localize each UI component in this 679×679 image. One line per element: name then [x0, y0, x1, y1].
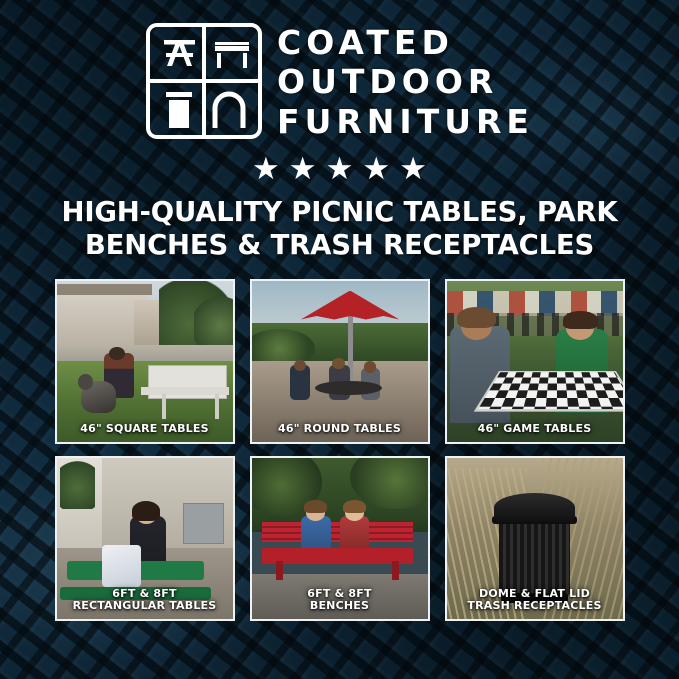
product-caption-line-2: TRASH RECEPTACLES [451, 600, 619, 613]
product-caption: 46" GAME TABLES [447, 423, 623, 436]
product-photo [57, 281, 233, 442]
headline: HIGH-QUALITY PICNIC TABLES, PARK BENCHES… [30, 196, 650, 263]
product-caption-line-2: BENCHES [256, 600, 424, 613]
promo-banner: COATED OUTDOOR FURNITURE ★ ★ ★ ★ ★ HIGH-… [0, 0, 679, 679]
star-icon: ★ [399, 153, 427, 184]
product-caption-line-1: 46" ROUND TABLES [256, 423, 424, 436]
brand-name-line-2: OUTDOOR [277, 63, 534, 101]
headline-line-1: HIGH-QUALITY PICNIC TABLES, PARK [30, 196, 650, 230]
product-grid: 46" SQUARE TABLES 46" ROUND TABLES [55, 279, 625, 621]
product-caption: DOME & FLAT LID TRASH RECEPTACLES [447, 588, 623, 613]
product-caption-line-1: 46" GAME TABLES [451, 423, 619, 436]
product-caption: 6FT & 8FT BENCHES [252, 588, 428, 613]
product-tile-trash-receptacles[interactable]: DOME & FLAT LID TRASH RECEPTACLES [445, 456, 625, 621]
coated-outdoor-furniture-logo-icon [145, 22, 263, 140]
product-caption: 46" SQUARE TABLES [57, 423, 233, 436]
product-tile-round-tables[interactable]: 46" ROUND TABLES [250, 279, 430, 444]
product-tile-game-tables[interactable]: 46" GAME TABLES [445, 279, 625, 444]
product-tile-benches[interactable]: 6FT & 8FT BENCHES [250, 456, 430, 621]
product-tile-square-tables[interactable]: 46" SQUARE TABLES [55, 279, 235, 444]
star-icon: ★ [326, 153, 354, 184]
headline-line-2: BENCHES & TRASH RECEPTACLES [30, 229, 650, 263]
product-caption: 46" ROUND TABLES [252, 423, 428, 436]
star-icon: ★ [362, 153, 390, 184]
product-photo [447, 281, 623, 442]
product-caption: 6FT & 8FT RECTANGULAR TABLES [57, 588, 233, 613]
star-rating: ★ ★ ★ ★ ★ [252, 153, 427, 184]
star-icon: ★ [252, 153, 280, 184]
product-caption-line-2: RECTANGULAR TABLES [61, 600, 229, 613]
product-tile-rectangular-tables[interactable]: 6FT & 8FT RECTANGULAR TABLES [55, 456, 235, 621]
product-photo [252, 281, 428, 442]
brand-name-line-1: COATED [277, 24, 534, 62]
brand-name-line-3: FURNITURE [277, 103, 534, 141]
brand-logo: COATED OUTDOOR FURNITURE [145, 22, 534, 141]
product-caption-line-1: 46" SQUARE TABLES [61, 423, 229, 436]
brand-wordmark: COATED OUTDOOR FURNITURE [277, 22, 534, 141]
star-icon: ★ [289, 153, 317, 184]
